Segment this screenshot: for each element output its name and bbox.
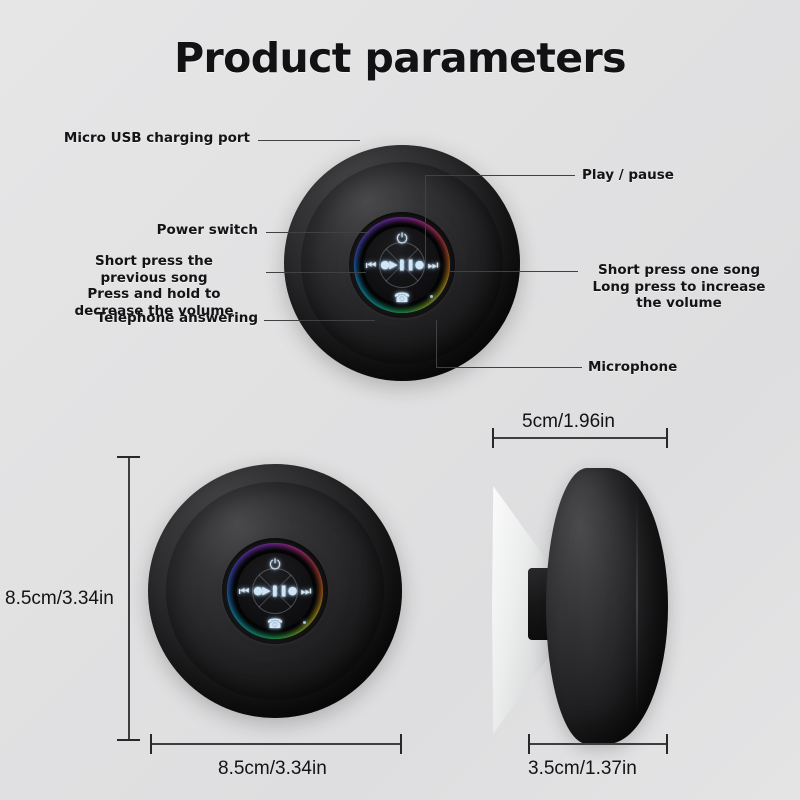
leader-line-play-pause-horizontal [425,175,575,176]
dimension-tick-left [528,734,530,754]
leader-line-microphone-vertical [436,320,437,368]
side-seam [636,496,638,714]
leader-line-previous-song [266,272,366,273]
dimension-tick-right [400,734,402,754]
callout-label-power-switch: Power switch [100,222,258,239]
power-icon[interactable]: ⏻ [222,558,328,572]
callout-label-telephone: Telephone answering [70,310,258,327]
dimension-line-side-height [492,437,668,439]
dimension-line-front-height [128,456,130,740]
control-panel-front[interactable]: ⏻ ⏮ ●▶❚❚● ⏭ ☎ [222,538,328,644]
dimension-text-side-width: 3.5cm/1.37in [528,758,637,780]
control-panel-main[interactable]: ⏻ ⏮ ●▶❚❚● ⏭ ☎ [349,212,455,318]
infographic-canvas: Product parameters ⏻ ⏮ ●▶❚❚● ⏭ ☎ Micro U… [0,0,800,800]
dimension-tick-top [117,456,140,458]
microphone-dot [303,621,306,624]
callout-label-microphone: Microphone [588,359,768,376]
dimension-text-side-height: 5cm/1.96in [522,411,615,433]
dimension-tick-right [666,734,668,754]
callout-label-play-pause: Play / pause [582,167,782,184]
dimension-line-side-width [528,743,668,745]
phone-call-icon[interactable]: ☎ [349,292,455,305]
dimension-tick-left [492,428,494,448]
leader-line-play-pause-vertical [425,175,426,265]
dimension-tick-left [150,734,152,754]
power-icon[interactable]: ⏻ [349,232,455,246]
dimension-text-front-width: 8.5cm/3.34in [218,758,327,780]
leader-line-microphone-horizontal [436,367,582,368]
page-title: Product parameters [0,34,800,82]
dimension-tick-bottom [117,739,140,741]
leader-line-micro-usb [258,140,360,141]
dimension-line-front-width [150,743,402,745]
next-track-icon[interactable]: ⏭ [298,585,314,597]
speaker-side-view [546,468,668,744]
dimension-text-front-height: 8.5cm/3.34in [5,588,114,610]
leader-line-power-switch [266,232,369,233]
leader-line-telephone [264,320,375,321]
callout-label-next-song: Short press one song Long press to incre… [576,262,782,312]
callout-label-micro-usb: Micro USB charging port [60,130,250,147]
next-track-icon[interactable]: ⏭ [425,259,441,271]
dimension-tick-right [666,428,668,448]
leader-line-next-song [450,271,578,272]
phone-call-icon[interactable]: ☎ [222,618,328,631]
microphone-dot [430,295,433,298]
